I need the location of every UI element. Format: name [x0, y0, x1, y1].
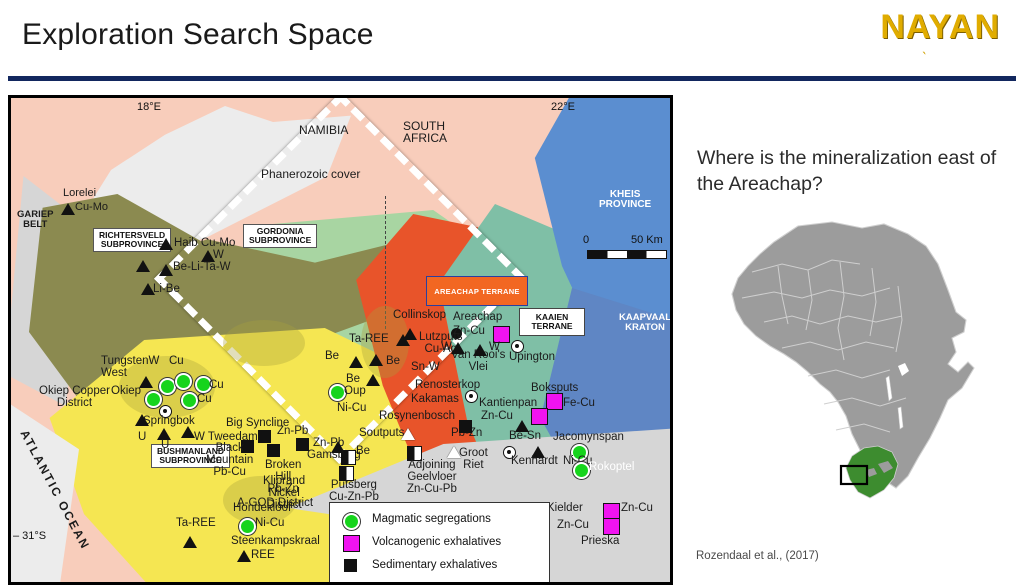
- deposit-rosynenbosch: Rosynenbosch: [379, 411, 455, 423]
- title-divider: [8, 76, 1016, 81]
- legend-label: Magmatic segregations: [372, 513, 491, 525]
- question-text: Where is the mineralization east of the …: [697, 145, 1012, 198]
- commodity-be-1: Be: [325, 351, 339, 363]
- commodity-be-4: Be: [356, 446, 370, 458]
- deposit-rokoptel: Rokoptel: [589, 462, 634, 474]
- granitoid-related-icon: [451, 342, 465, 354]
- sedimentary-exhalative-icon: [459, 420, 472, 433]
- deposit-kielder-commodity: Zn-Cu: [621, 503, 653, 515]
- commodity-li-be: Li-Be: [153, 284, 180, 296]
- district-okiep-copper: Okiep Copper District: [39, 386, 110, 410]
- label-kaapvaal-kraton: KAAPVAAL KRATON: [619, 313, 671, 333]
- kaaien-terrane-label: KAAIENTERRANE: [519, 308, 585, 336]
- granitoid-related-icon: [61, 203, 75, 215]
- areachap-terrane-banner: AREACHAP TERRANE: [426, 276, 528, 306]
- granitoid-related-icon: [366, 374, 380, 386]
- deposit-steenkampskraal: Steenkampskraal: [231, 536, 320, 548]
- sedimentary-exhalative-icon: [258, 430, 271, 443]
- brand-tick-mark: `: [920, 52, 929, 67]
- scale-start: 0: [583, 234, 589, 246]
- magmatic-segregation-icon: [340, 511, 366, 529]
- coord-22e: 22°E: [551, 101, 575, 113]
- map-legend: Magmatic segregations Volcanogenic exhal…: [329, 502, 550, 585]
- commodity-w-3: W: [489, 342, 500, 354]
- deposit-kantienpan: Kantienpan: [479, 398, 537, 410]
- brand-logo: NAYAN: [880, 8, 1000, 47]
- granitoid-related-icon: [331, 441, 345, 453]
- towns-icon: [465, 390, 478, 403]
- label-gordonia-subprovince: GORDONIASUBPROVINCE: [243, 224, 317, 248]
- volcanogenic-exhalative-icon: [531, 408, 548, 425]
- scale-bar: [587, 250, 667, 259]
- africa-continent-shape: [732, 222, 974, 498]
- label-south-africa: SOUTH AFRICA: [403, 120, 447, 145]
- label-kheis-province: KHEIS PROVINCE: [599, 190, 651, 211]
- deposit-kantienpan-commodity: Zn-Cu: [481, 411, 513, 423]
- granitoid-related-icon: [403, 328, 417, 340]
- deposit-oup-commodity: Ni-Cu: [337, 403, 366, 415]
- deposit-prieska: Prieska: [581, 536, 619, 548]
- granitoid-related-icon: [159, 264, 173, 276]
- volcanogenic-exhalative-icon: [546, 393, 563, 410]
- commodity-w-2: W: [441, 342, 452, 354]
- label-namibia: NAMIBIA: [299, 124, 348, 136]
- deposit-steenkampskraal-commodity: REE: [251, 550, 275, 562]
- page-title: Exploration Search Space: [22, 18, 374, 52]
- granitoid-related-icon: [136, 260, 150, 272]
- deposit-w-tweedam: W Tweedam: [194, 432, 258, 444]
- deposit-boksputs-commodity: Fe-Cu: [563, 398, 595, 410]
- volcanogenic-exhalative-icon: [603, 518, 620, 535]
- citation-text: Rozendaal et al., (2017): [696, 550, 819, 562]
- magmatic-segregation-icon: [181, 392, 198, 409]
- commodity-be-2: Be: [386, 356, 400, 368]
- deposit-collinskop: Collinskop: [393, 310, 446, 322]
- deposit-soutputs: Soutputs: [359, 428, 404, 440]
- deposit-ta-ree-gordonia: Ta-REE: [349, 334, 389, 346]
- magmatic-segregation-icon: [159, 378, 176, 395]
- deposit-okiep: Okiep: [111, 386, 141, 398]
- deposit-lorelei-commodity: Cu-Mo: [75, 202, 108, 213]
- skarn-iocg-icon: [340, 580, 366, 585]
- granitoid-related-icon: [139, 376, 153, 388]
- magmatic-segregation-icon: [145, 391, 162, 408]
- legend-label: Skarn-IOCG: [372, 582, 435, 585]
- town-upington: Upington: [509, 352, 555, 364]
- deposit-areachap: Areachap: [453, 312, 502, 324]
- legend-label: Volcanogenic exhalatives: [372, 536, 501, 548]
- coord-31s: – 31°S: [13, 530, 46, 542]
- granitoid-related-icon: [237, 550, 251, 562]
- commodity-cu-3: Cu: [197, 394, 212, 406]
- granitoid-related-icon: [349, 356, 363, 368]
- granitoid-related-icon: [135, 414, 149, 426]
- africa-inset-map: [712, 212, 1002, 537]
- deposit-kielder: Kielder: [547, 503, 583, 515]
- commodity-u-1: U: [138, 432, 146, 444]
- commodity-be-li-ta-w: Be-Li-Ta-W: [173, 262, 231, 274]
- deposit-hondekloof: Hondekloof: [233, 503, 291, 515]
- deposit-areachap-commodity: Zn-Cu: [453, 326, 485, 338]
- magmatic-segregation-icon: [573, 462, 590, 479]
- sedimentary-exhalative-icon: [340, 557, 366, 575]
- magmatic-segregation-icon: [175, 373, 192, 390]
- commodity-zn-pb-1: Zn-Pb: [277, 426, 308, 438]
- volcanogenic-exhalative-icon: [340, 534, 366, 552]
- deposit-oup: Oup: [344, 386, 366, 398]
- deposit-ta-ree-south: Ta-REE: [176, 518, 216, 530]
- label-phanerozoic-cover: Phanerozoic cover: [261, 168, 360, 180]
- town-kakamas: Kakamas: [411, 394, 459, 406]
- commodity-cu-2: Cu: [209, 380, 224, 392]
- legend-label: Sedimentary exhalatives: [372, 559, 497, 571]
- commodity-u-2: U: [161, 440, 169, 452]
- scale-end: 50 Km: [631, 234, 663, 246]
- sedimentary-exhalative-icon: [267, 444, 280, 457]
- deposit-jacomynspan: Jacomynspan: [553, 432, 624, 444]
- commodity-cu-1: Cu: [169, 356, 184, 368]
- commodity-be-sn: Be-Sn: [509, 431, 541, 443]
- deposit-hondekloof-commodity: Ni-Cu: [255, 518, 284, 530]
- deposit-putsberg: Putsberg Cu-Zn-Pb: [329, 480, 379, 504]
- granitoid-related-icon: [473, 344, 487, 356]
- label-gariep-belt: GARIEP BELT: [17, 210, 53, 230]
- granitoid-related-icon: [181, 426, 195, 438]
- halo-aggeneys: [223, 320, 305, 366]
- deposit-groot-riet: Groot Riet: [459, 448, 488, 472]
- deposit-adjoining-geelvloer: Adjoining Geelvloer Zn-Cu-Pb: [407, 460, 457, 496]
- coord-18e: 18°E: [137, 101, 161, 113]
- magmatic-segregation-icon: [239, 518, 256, 535]
- deposit-prieska-commodity: Zn-Cu: [557, 520, 589, 532]
- town-kenhardt: Kenhardt: [511, 456, 558, 468]
- deposit-lorelei: Lorelei: [63, 188, 96, 199]
- geological-map[interactable]: AREACHAP TERRANE KAAIENTERRANE 18°E 22°E…: [8, 95, 673, 585]
- commodity-sn-w: Sn-W: [411, 362, 440, 374]
- granitoid-related-icon: [183, 536, 197, 548]
- deposit-black-mountain: Black Mountain Pb-Cu: [206, 443, 253, 479]
- granitoid-related-icon: [159, 238, 173, 250]
- granitoid-related-icon: [369, 354, 383, 366]
- deposit-haib: Haib Cu-Mo: [174, 238, 235, 250]
